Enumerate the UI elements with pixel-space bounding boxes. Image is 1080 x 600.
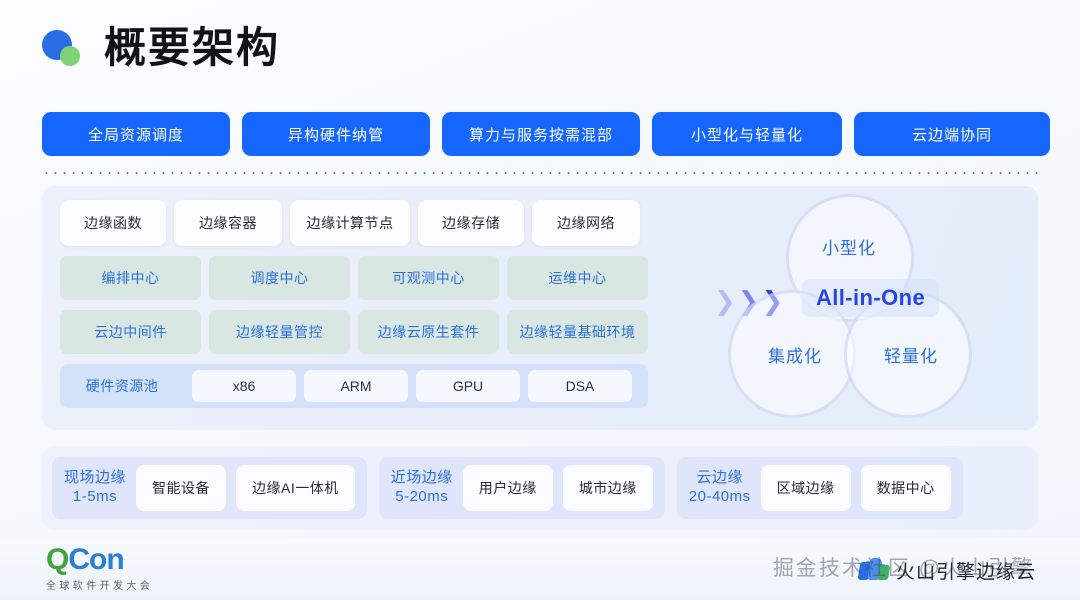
card-scheduling-center[interactable]: 调度中心 [209, 256, 350, 300]
row-edge-services: 边缘函数 边缘容器 边缘计算节点 边缘存储 边缘网络 [60, 200, 648, 246]
pill-miniaturization-lightweight[interactable]: 小型化与轻量化 [652, 112, 842, 156]
card-edge-compute-node[interactable]: 边缘计算节点 [290, 200, 410, 246]
tier-chip-regional-edge[interactable]: 区域边缘 [761, 465, 851, 511]
tier-name: 云边缘 [696, 469, 743, 488]
tier-cloud-edge: 云边缘 20-40ms 区域边缘 数据中心 [677, 457, 963, 519]
card-edge-lightweight-control[interactable]: 边缘轻量管控 [209, 310, 350, 354]
card-observability-center[interactable]: 可观测中心 [358, 256, 499, 300]
card-edge-container[interactable]: 边缘容器 [174, 200, 282, 246]
venn-label-miniaturization: 小型化 [822, 234, 876, 259]
tier-chip-data-center[interactable]: 数据中心 [861, 465, 951, 511]
chip-x86[interactable]: x86 [192, 370, 296, 402]
architecture-panel: 边缘函数 边缘容器 边缘计算节点 边缘存储 边缘网络 编排中心 调度中心 可观测… [42, 186, 1038, 430]
card-edge-network[interactable]: 边缘网络 [532, 200, 640, 246]
dotted-divider [42, 172, 1038, 174]
tier-on-site-edge: 现场边缘 1-5ms 智能设备 边缘AI一体机 [52, 457, 367, 519]
hardware-pool-label: 硬件资源池 [60, 376, 184, 396]
qcon-subtitle: 全球软件开发大会 [46, 577, 153, 592]
volcengine-mark-icon [859, 558, 889, 584]
brand-dots-icon [42, 26, 86, 70]
tier-label-near-field: 近场边缘 5-20ms [391, 469, 453, 507]
tier-latency: 20-40ms [689, 488, 751, 507]
volcengine-mark-part-3 [877, 565, 890, 580]
page-title: 概要架构 [104, 27, 280, 69]
tier-chip-edge-ai-appliance[interactable]: 边缘AI一体机 [236, 465, 355, 511]
tier-name: 现场边缘 [64, 469, 126, 488]
pill-heterogeneous-hardware[interactable]: 异构硬件纳管 [242, 112, 430, 156]
venn-label-integration: 集成化 [768, 342, 822, 367]
venn-label-lightweight: 轻量化 [884, 342, 938, 367]
card-ops-center[interactable]: 运维中心 [507, 256, 648, 300]
architecture-stack: 边缘函数 边缘容器 边缘计算节点 边缘存储 边缘网络 编排中心 调度中心 可观测… [60, 200, 648, 408]
tier-latency: 1-5ms [73, 488, 117, 507]
brand-name-text: 火山引擎边缘云 [896, 557, 1036, 584]
tier-label-on-site: 现场边缘 1-5ms [64, 469, 126, 507]
card-edge-function[interactable]: 边缘函数 [60, 200, 166, 246]
qcon-letter-q: Q [46, 543, 68, 576]
chip-dsa[interactable]: DSA [528, 370, 632, 402]
slide-root: 概要架构 全局资源调度 异构硬件纳管 算力与服务按需混部 小型化与轻量化 云边端… [0, 0, 1080, 600]
row-middleware: 云边中间件 边缘轻量管控 边缘云原生套件 边缘轻量基础环境 [60, 310, 648, 354]
row-centers: 编排中心 调度中心 可观测中心 运维中心 [60, 256, 648, 300]
card-edge-lightweight-base-env[interactable]: 边缘轻量基础环境 [507, 310, 648, 354]
feature-pill-group: 全局资源调度 异构硬件纳管 算力与服务按需混部 小型化与轻量化 云边端协同 [42, 112, 1050, 156]
row-hardware-pool: 硬件资源池 x86 ARM GPU DSA [60, 364, 648, 408]
tier-chip-city-edge[interactable]: 城市边缘 [563, 465, 653, 511]
qcon-logo: QCon 全球软件开发大会 [46, 545, 153, 592]
pill-compute-service-colocation[interactable]: 算力与服务按需混部 [442, 112, 640, 156]
card-cloud-edge-middleware[interactable]: 云边中间件 [60, 310, 201, 354]
qcon-letters-con: Con [68, 543, 123, 576]
card-edge-cloud-native-suite[interactable]: 边缘云原生套件 [358, 310, 499, 354]
chip-gpu[interactable]: GPU [416, 370, 520, 402]
qcon-wordmark: QCon [46, 545, 153, 575]
chip-arm[interactable]: ARM [304, 370, 408, 402]
venn-diagram: ❯ ❯ ❯ 小型化 集成化 轻量化 All-in-One [662, 186, 1038, 430]
tier-chip-user-edge[interactable]: 用户边缘 [463, 465, 553, 511]
tier-label-cloud-edge: 云边缘 20-40ms [689, 469, 751, 507]
volcengine-edge-cloud-logo: 火山引擎边缘云 [859, 557, 1036, 584]
pill-cloud-edge-device-synergy[interactable]: 云边端协同 [854, 112, 1050, 156]
card-orchestration-center[interactable]: 编排中心 [60, 256, 201, 300]
tier-chip-smart-device[interactable]: 智能设备 [136, 465, 226, 511]
footer-bar: QCon 全球软件开发大会 火山引擎边缘云 掘金技术社区 @火山引擎 [0, 538, 1080, 600]
venn-center-all-in-one: All-in-One [802, 279, 939, 317]
edge-tier-band: 现场边缘 1-5ms 智能设备 边缘AI一体机 近场边缘 5-20ms 用户边缘… [42, 446, 1038, 530]
card-edge-storage[interactable]: 边缘存储 [418, 200, 524, 246]
tier-name: 近场边缘 [391, 469, 453, 488]
pill-global-resource-scheduling[interactable]: 全局资源调度 [42, 112, 230, 156]
green-dot-icon [60, 46, 80, 66]
slide-header: 概要架构 [42, 26, 280, 70]
tier-near-field-edge: 近场边缘 5-20ms 用户边缘 城市边缘 [379, 457, 665, 519]
tier-latency: 5-20ms [395, 488, 448, 507]
chevron-right-icon-1: ❯ [714, 288, 736, 314]
